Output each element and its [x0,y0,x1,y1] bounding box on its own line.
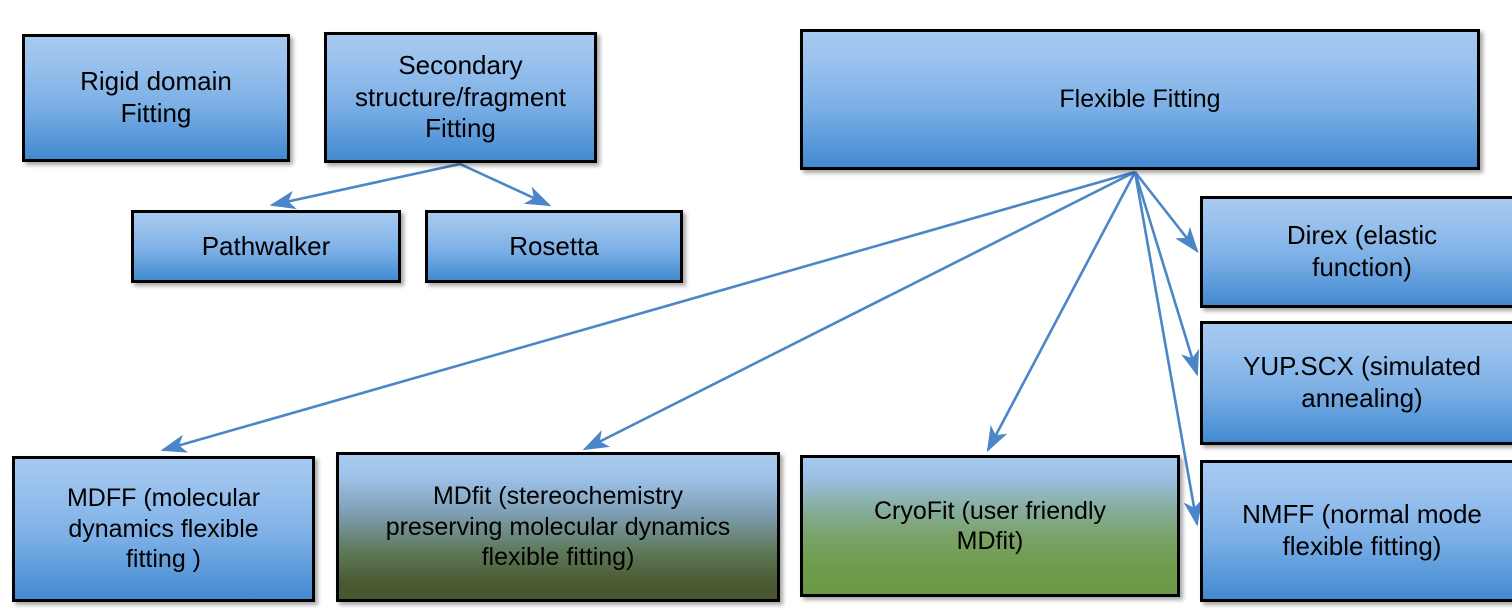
node-label: Rosetta [509,231,599,263]
node-yup-scx[interactable]: YUP.SCX (simulated annealing) [1200,321,1512,445]
edge-secondary-to-pathwalker [272,164,460,205]
edge-flexible-to-cryofit [988,172,1135,450]
node-label: Flexible Fitting [1059,84,1220,115]
node-label: MDFF (molecular dynamics flexible fittin… [67,483,260,575]
node-label: Rigid domain Fitting [80,66,232,129]
node-label: CryoFit (user friendly MDfit) [874,496,1106,557]
node-label: YUP.SCX (simulated annealing) [1243,351,1481,414]
node-pathwalker[interactable]: Pathwalker [131,210,401,283]
node-label: NMFF (normal mode flexible fitting) [1242,499,1482,562]
node-secondary-structure-fragment-fitting[interactable]: Secondary structure/fragment Fitting [324,32,597,163]
node-nmff[interactable]: NMFF (normal mode flexible fitting) [1200,460,1512,602]
node-direx[interactable]: Direx (elastic function) [1200,196,1512,308]
node-rosetta[interactable]: Rosetta [425,210,683,283]
node-mdff[interactable]: MDFF (molecular dynamics flexible fittin… [12,456,315,602]
edge-secondary-to-rosetta [460,164,549,205]
node-flexible-fitting[interactable]: Flexible Fitting [800,29,1480,170]
node-label: Secondary structure/fragment Fitting [355,50,566,145]
edge-flexible-to-yupscx [1135,172,1197,374]
edge-flexible-to-direx [1135,172,1197,251]
diagram-canvas: Rigid domain Fitting Secondary structure… [0,0,1512,610]
node-cryofit[interactable]: CryoFit (user friendly MDfit) [800,455,1180,597]
node-label: Pathwalker [202,231,331,263]
node-label: MDfit (stereochemistry preserving molecu… [386,481,731,573]
node-mdfit[interactable]: MDfit (stereochemistry preserving molecu… [336,452,780,602]
node-rigid-domain-fitting[interactable]: Rigid domain Fitting [22,34,290,162]
node-label: Direx (elastic function) [1287,220,1437,283]
